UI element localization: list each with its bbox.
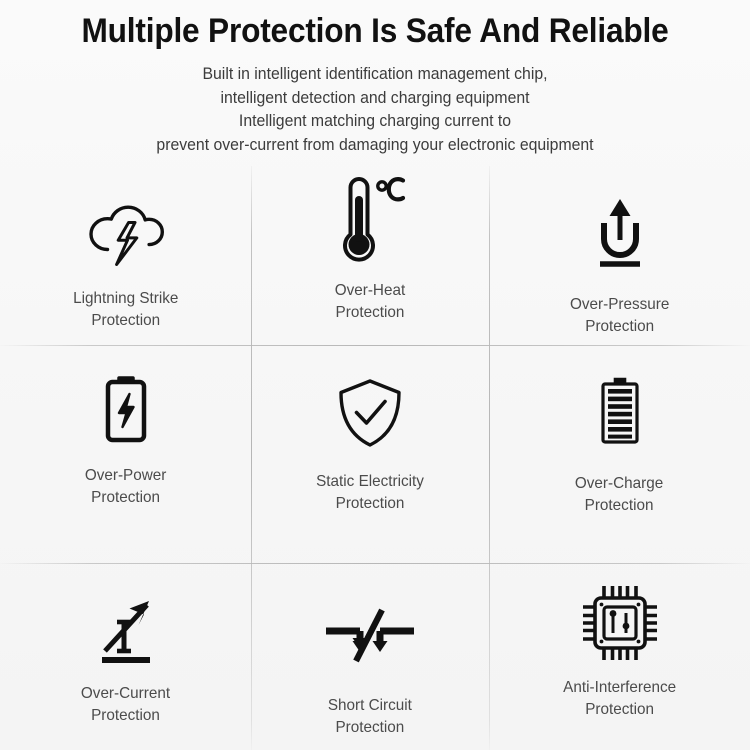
- feature-label-line2: Protection: [316, 493, 424, 515]
- feature-label-line1: Over-Heat: [335, 282, 405, 299]
- current-arrow-up-icon: [0, 585, 251, 677]
- feature-cell-anti-interference: Anti-Interference Protection: [489, 563, 750, 750]
- short-circuit-arrows-icon: [251, 591, 489, 683]
- feature-label: Over-Heat Protection: [335, 280, 405, 323]
- feature-cell-short-circuit: Short Circuit Protection: [251, 563, 489, 750]
- page-subtitle: Built in intelligent identification mana…: [11, 63, 739, 157]
- feature-cell-over-power: Over-Power Protection: [0, 345, 251, 563]
- feature-cell-over-current: Over-Current Protection: [0, 563, 251, 750]
- feature-label: Anti-Interference Protection: [563, 677, 676, 720]
- battery-bolt-icon: [0, 363, 251, 455]
- feature-label-line1: Anti-Interference: [563, 679, 676, 696]
- feature-label-line1: Over-Pressure: [570, 296, 669, 313]
- header: Multiple Protection Is Safe And Reliable…: [0, 0, 750, 157]
- battery-full-bars-icon: [489, 365, 750, 457]
- feature-label-line2: Protection: [335, 302, 405, 324]
- feature-label: Over-Current Protection: [81, 683, 170, 726]
- feature-cell-over-pressure: Over-Pressure Protection: [489, 166, 750, 345]
- feature-label-line1: Over-Charge: [575, 475, 663, 492]
- subtitle-line-1: Built in intelligent identification mana…: [11, 63, 739, 87]
- feature-label: Over-Pressure Protection: [570, 294, 669, 337]
- feature-label-line2: Protection: [563, 699, 676, 721]
- feature-label: Static Electricity Protection: [316, 471, 424, 514]
- page-title: Multiple Protection Is Safe And Reliable: [26, 8, 724, 54]
- feature-label-line2: Protection: [81, 705, 170, 727]
- feature-label: Over-Charge Protection: [575, 473, 663, 516]
- feature-label-line2: Protection: [73, 310, 178, 332]
- subtitle-line-2: intelligent detection and charging equip…: [11, 87, 739, 111]
- feature-cell-over-heat: Over-Heat Protection: [251, 166, 489, 345]
- feature-label-line1: Over-Current: [81, 685, 170, 702]
- cloud-lightning-icon: [0, 190, 251, 282]
- feature-label: Over-Power Protection: [85, 465, 167, 508]
- feature-label-line1: Lightning Strike: [73, 290, 178, 307]
- feature-label-line2: Protection: [328, 717, 412, 739]
- feature-label-line2: Protection: [570, 316, 669, 338]
- feature-cell-static-electricity: Static Electricity Protection: [251, 345, 489, 563]
- shield-check-icon: [251, 367, 489, 459]
- feature-label-line1: Over-Power: [85, 467, 167, 484]
- microchip-icon: [489, 577, 750, 669]
- subtitle-line-3: Intelligent matching charging current to: [11, 110, 739, 134]
- feature-label-line2: Protection: [85, 487, 167, 509]
- feature-cell-over-charge: Over-Charge Protection: [489, 345, 750, 563]
- feature-label: Lightning Strike Protection: [73, 288, 178, 331]
- feature-label-line1: Static Electricity: [316, 473, 424, 490]
- feature-cell-lightning-strike: Lightning Strike Protection: [0, 166, 251, 345]
- thermometer-celsius-icon: [251, 174, 489, 266]
- protection-features-page: Multiple Protection Is Safe And Reliable…: [0, 0, 750, 750]
- subtitle-line-4: prevent over-current from damaging your …: [11, 134, 739, 158]
- feature-label: Short Circuit Protection: [328, 695, 412, 738]
- feature-grid: Lightning Strike Protection Over-Heat Pr…: [0, 166, 750, 750]
- feature-label-line2: Protection: [575, 495, 663, 517]
- feature-label-line1: Short Circuit: [328, 697, 412, 714]
- pressure-up-arrow-icon: [489, 188, 750, 280]
